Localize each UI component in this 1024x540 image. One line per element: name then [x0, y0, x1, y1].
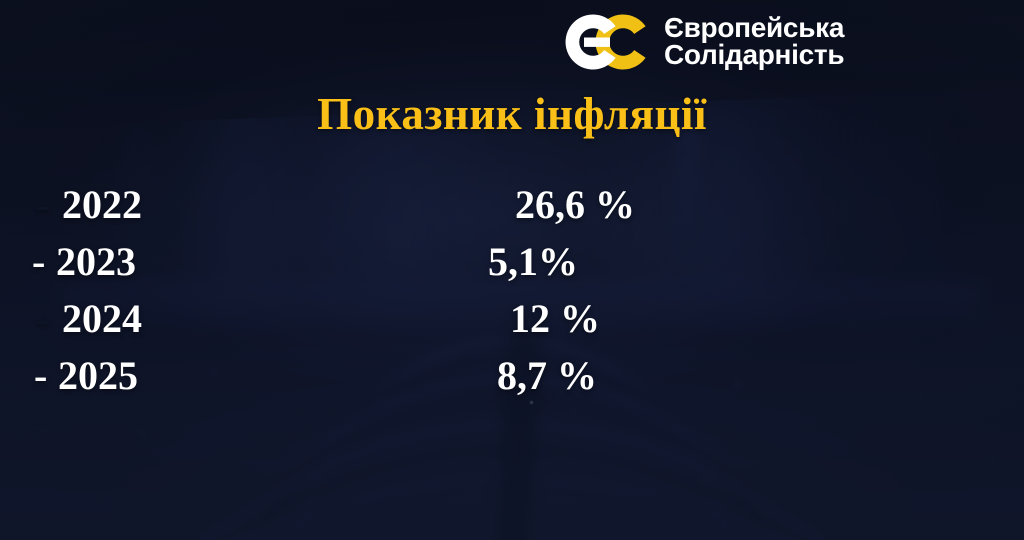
list-item: - 2024 12 %: [0, 290, 1024, 347]
inflation-value: 8,7 %: [412, 347, 682, 404]
inflation-list: - 2022 26,6 % - 2023 5,1% - 2024 12 % - …: [0, 176, 1024, 404]
list-item: - 2023 5,1%: [0, 233, 1024, 290]
year-label: 2025: [58, 347, 138, 404]
list-item: - 2022 26,6 %: [0, 176, 1024, 233]
party-logo: Європейська Солідарність: [560, 13, 844, 71]
list-item: - 2025 8,7 %: [0, 347, 1024, 404]
es-monogram-icon: [560, 13, 656, 71]
year-label: 2022: [62, 176, 142, 233]
party-name-line2: Солідарність: [664, 42, 844, 69]
inflation-value: 5,1%: [398, 233, 668, 290]
party-name: Європейська Солідарність: [664, 15, 844, 69]
inflation-value: 26,6 %: [440, 176, 710, 233]
bullet-dash: -: [36, 290, 49, 347]
year-label: 2024: [62, 290, 142, 347]
presentation-slide: Європейська Солідарність Показник інфляц…: [0, 0, 1024, 540]
year-label: 2023: [56, 233, 136, 290]
inflation-value: 12 %: [420, 290, 690, 347]
bullet-dash: -: [32, 233, 45, 290]
bullet-dash: -: [34, 347, 47, 404]
bullet-dash: -: [36, 176, 49, 233]
party-name-line1: Європейська: [664, 15, 844, 42]
slide-title: Показник інфляції: [0, 88, 1024, 140]
